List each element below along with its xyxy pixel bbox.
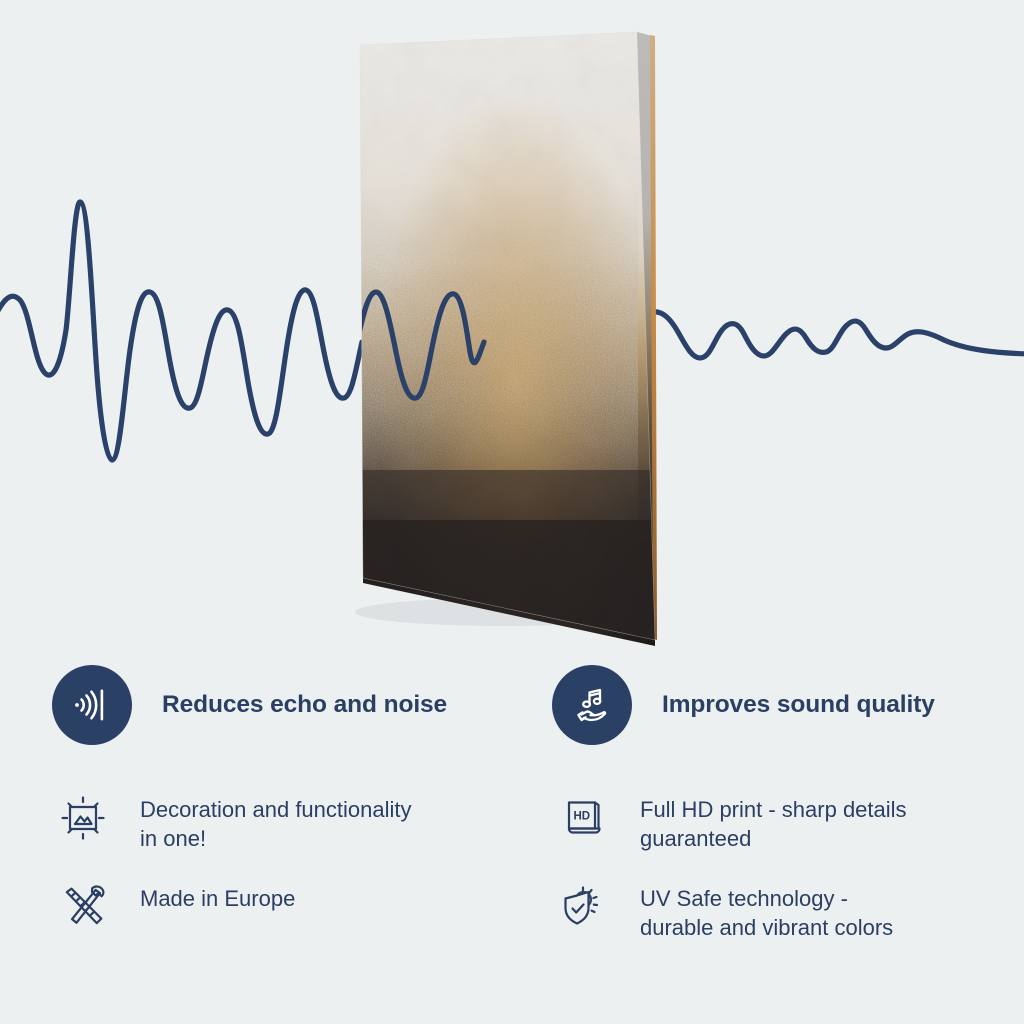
- feature-reduces-echo: Reduces echo and noise: [52, 665, 552, 745]
- feature-text-line2: durable and vibrant colors: [640, 913, 893, 942]
- feature-text-line2: in one!: [140, 824, 412, 853]
- feature-text: UV Safe technology - durable and vibrant…: [640, 876, 893, 943]
- ruler-hammer-icon: [52, 876, 114, 938]
- feature-made-in-europe: Made in Europe: [52, 876, 552, 938]
- feature-text-line1: Made in Europe: [140, 884, 295, 913]
- feature-label: Reduces echo and noise: [162, 690, 447, 719]
- framed-picture-icon: [52, 787, 114, 849]
- feature-text-line1: Decoration and functionality: [140, 795, 412, 824]
- feature-decoration: Decoration and functionality in one!: [52, 787, 552, 854]
- music-note-hand-icon: [552, 665, 632, 745]
- uv-shield-sun-icon: [552, 876, 614, 938]
- hero-section: [0, 0, 1024, 650]
- hd-print-icon: HD: [552, 787, 614, 849]
- feature-text: Made in Europe: [140, 876, 295, 913]
- sound-waveform-overlay: [0, 0, 1024, 650]
- features-section: Reduces echo and noise: [0, 645, 1024, 1024]
- primary-feature-row: Reduces echo and noise: [52, 645, 992, 765]
- svg-text:HD: HD: [574, 811, 591, 823]
- feature-uv-safe: UV Safe technology - durable and vibrant…: [552, 876, 992, 943]
- feature-label: Improves sound quality: [662, 690, 935, 719]
- feature-text: Decoration and functionality in one!: [140, 787, 412, 854]
- feature-hd-print: HD Full HD print - sharp details guarant…: [552, 787, 992, 854]
- secondary-feature-rows: Decoration and functionality in one!: [52, 765, 992, 942]
- feature-text-line1: Full HD print - sharp details: [640, 795, 907, 824]
- infographic-page: Reduces echo and noise: [0, 0, 1024, 1024]
- feature-text-line2: guaranteed: [640, 824, 907, 853]
- feature-improves-sound: Improves sound quality: [552, 665, 992, 745]
- feature-text-line1: UV Safe technology -: [640, 884, 893, 913]
- feature-text: Full HD print - sharp details guaranteed: [640, 787, 907, 854]
- sound-wave-icon: [52, 665, 132, 745]
